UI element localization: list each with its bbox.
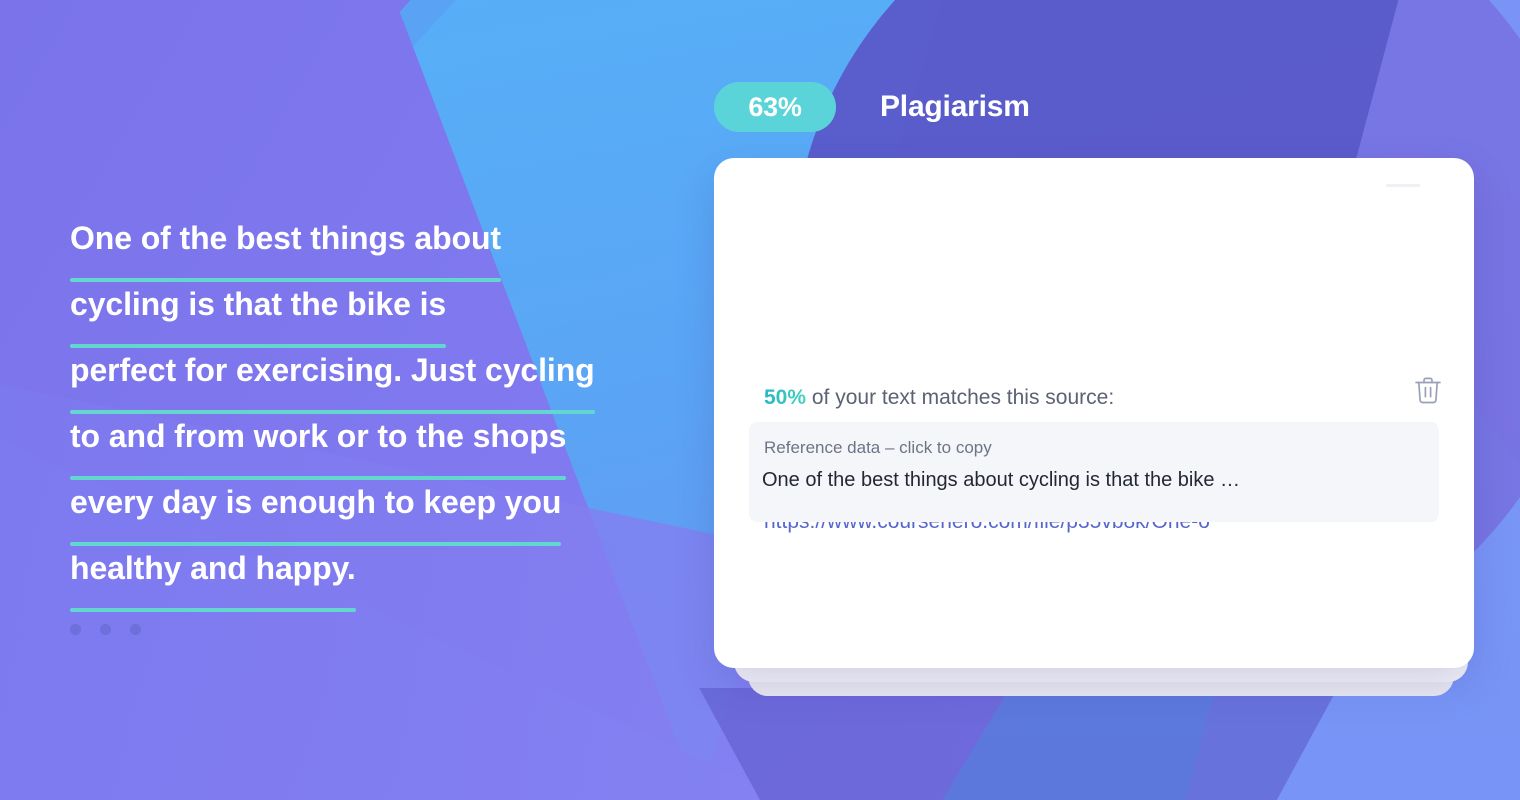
pagination-dot[interactable] [100,624,111,635]
passage-line[interactable]: healthy and happy. [70,535,690,601]
passage-line-text: healthy and happy. [70,535,356,601]
match-percent-label: of your text matches this source: [806,386,1114,409]
pagination-dot[interactable] [70,624,81,635]
passage-line-text: to and from work or to the shops [70,403,566,469]
reference-data-text: One of the best things about cycling is … [762,469,1452,492]
match-percent-row: 50% of your text matches this source: [764,386,1114,410]
passage-line-text: every day is enough to keep you [70,469,561,535]
passage-line-text: perfect for exercising. Just cycling [70,337,595,403]
passage-line-text: cycling is that the bike is [70,271,446,337]
delete-match-button[interactable] [1400,364,1456,420]
trash-icon [1413,374,1443,411]
app-canvas: One of the best things about cycling is … [0,0,1520,800]
passage-line[interactable]: One of the best things about [70,205,690,271]
passage-line[interactable]: perfect for exercising. Just cycling [70,337,690,403]
match-percent-value: 50% [764,386,806,409]
plagiarism-header: 63% Plagiarism [714,82,1030,132]
passage-line[interactable]: cycling is that the bike is [70,271,690,337]
reference-data-box[interactable]: Reference data – click to copy One of th… [749,422,1439,522]
pagination-dot[interactable] [130,624,141,635]
passage-line[interactable]: to and from work or to the shops [70,403,690,469]
passage-pagination-dots[interactable] [70,624,141,635]
page-title: Plagiarism [880,90,1030,124]
plagiarism-match-card: 50% of your text matches this source: On… [714,158,1474,668]
card-notch [1386,184,1420,187]
plagiarism-score-badge[interactable]: 63% [714,82,836,132]
passage-line[interactable]: every day is enough to keep you [70,469,690,535]
source-passage: One of the best things about cycling is … [70,205,690,601]
passage-line-text: One of the best things about [70,205,501,271]
reference-data-label: Reference data – click to copy [764,438,992,458]
